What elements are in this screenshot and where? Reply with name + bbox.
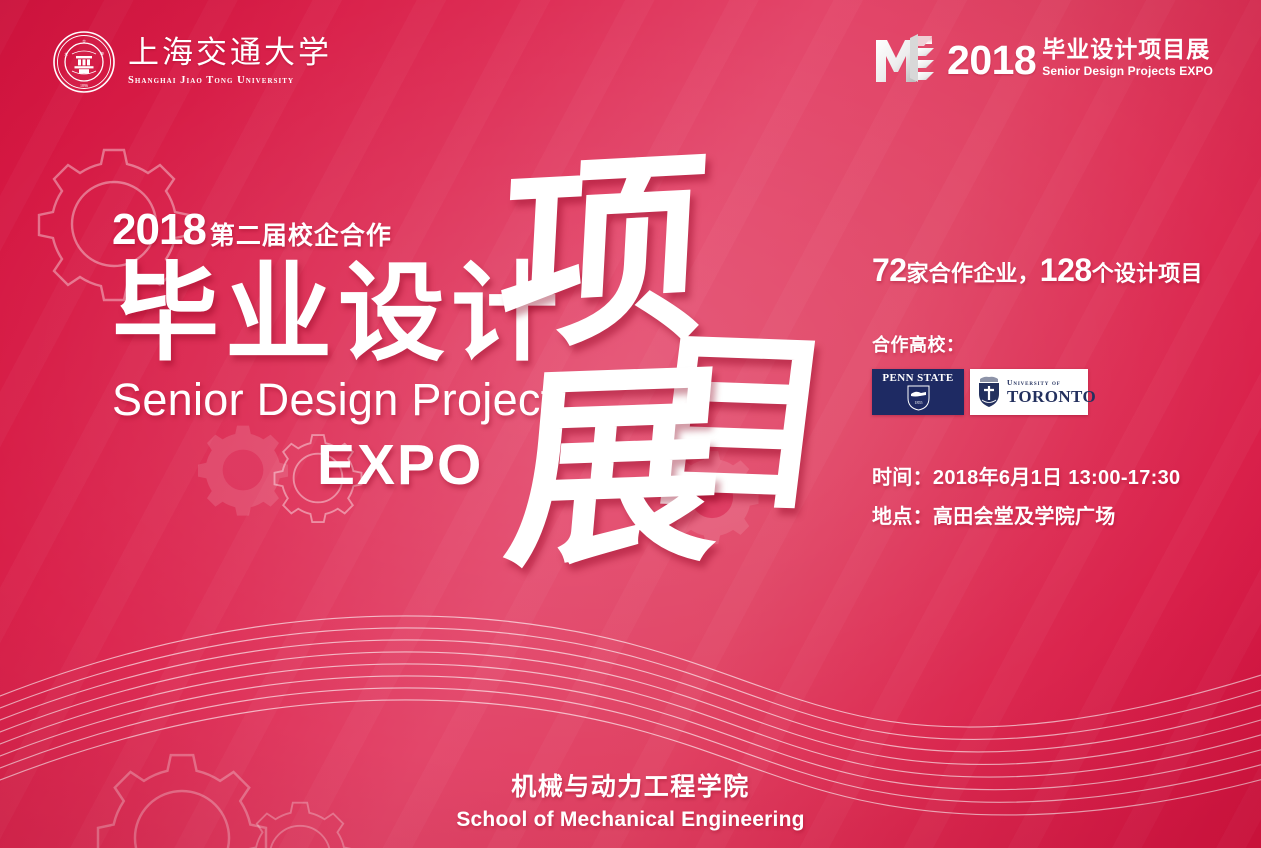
me-monogram-icon <box>874 32 936 84</box>
event-logo-year: 2018 <box>947 42 1036 78</box>
event-logo-titles: 毕业设计项目展 Senior Design Projects EXPO <box>1042 38 1213 78</box>
partner-logo-penn-state: PENN STATE 1855 <box>872 369 964 415</box>
sjtu-name-en: Shanghai Jiao Tong University <box>128 76 332 87</box>
event-logo: 2018 毕业设计项目展 Senior Design Projects EXPO <box>874 32 1213 84</box>
toronto-name-small: University of <box>1007 379 1096 387</box>
svg-text:學: 學 <box>100 51 104 56</box>
poster-canvas: 交 大 學 1896 上海交通大学 Shanghai Jiao Tong Uni… <box>0 0 1261 848</box>
sjtu-logo: 交 大 學 1896 上海交通大学 Shanghai Jiao Tong Uni… <box>52 30 332 94</box>
svg-text:大: 大 <box>64 51 68 56</box>
svg-text:交: 交 <box>82 39 86 44</box>
stats-line: 72家合作企业，128个设计项目 <box>872 252 1232 289</box>
event-place: 地点：高田会堂及学院广场 <box>872 500 1232 529</box>
title-edition: 第二届校企合作 <box>210 216 392 252</box>
title-year: 2018 <box>112 205 206 255</box>
svg-text:1855: 1855 <box>914 400 922 405</box>
school-name-cn: 机械与动力工程学院 <box>0 767 1261 803</box>
sjtu-name-cn: 上海交通大学 <box>128 38 332 69</box>
school-name-en: School of Mechanical Engineering <box>0 808 1261 832</box>
event-logo-text: 2018 毕业设计项目展 Senior Design Projects EXPO <box>947 38 1213 78</box>
penn-state-shield-icon: 1855 <box>907 385 930 411</box>
projects-label: 个设计项目 <box>1092 261 1203 286</box>
partner-logo-toronto: University of TORONTO <box>970 369 1088 415</box>
event-logo-title-en: Senior Design Projects EXPO <box>1042 65 1213 77</box>
calligraphy-char-zhan: 展 <box>499 356 734 578</box>
sjtu-seal-icon: 交 大 學 1896 <box>52 30 116 94</box>
toronto-wordmark: University of TORONTO <box>1007 379 1096 406</box>
footer-block: 机械与动力工程学院 School of Mechanical Engineeri… <box>0 767 1261 832</box>
partners-label: 合作高校： <box>872 331 1232 357</box>
partner-logos: PENN STATE 1855 University of TORONTO <box>872 369 1232 415</box>
companies-count: 72 <box>872 252 907 288</box>
penn-state-wordmark: PENN STATE <box>882 372 953 384</box>
info-panel: 72家合作企业，128个设计项目 合作高校： PENN STATE 1855 <box>872 252 1232 529</box>
toronto-crest-icon <box>976 376 1002 408</box>
event-logo-title-cn: 毕业设计项目展 <box>1042 38 1213 61</box>
event-time: 时间：2018年6月1日 13:00-17:30 <box>872 461 1232 490</box>
toronto-name-big: TORONTO <box>1007 388 1096 405</box>
sjtu-wordmark: 上海交通大学 Shanghai Jiao Tong University <box>128 38 332 87</box>
svg-text:1896: 1896 <box>80 83 88 88</box>
companies-label: 家合作企业， <box>907 261 1040 286</box>
projects-count: 128 <box>1040 252 1092 288</box>
calligraphy-block: 项 目 展 <box>495 150 795 555</box>
